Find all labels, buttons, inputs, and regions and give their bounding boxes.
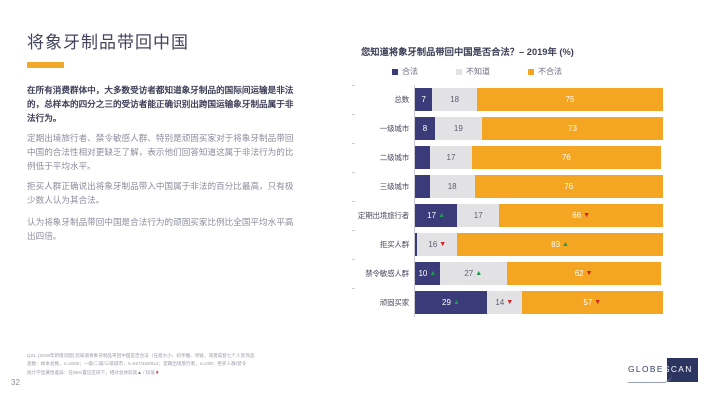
logo-swoosh [628,374,672,383]
title-underline-accent [27,62,64,68]
footnote-line-3: 统计学显著性差异：在95%置信区间下，相对总体较高▲ / 较低▼ [27,369,387,377]
bar-segment-不知道: 16▼ [417,233,457,256]
bar-segment-合法: 8 [415,117,435,140]
axis-tick [352,201,355,202]
chart-bar-group: 10▲27▲62▼ [415,262,710,285]
chart-row: 顽固买家29▲14▼57▼ [352,291,710,314]
axis-tick [352,85,355,86]
bar-segment-不合法: 66▼ [499,204,663,227]
chart-row-label: 一级城市 [352,123,414,134]
bar-segment-合法: 6 [415,146,430,169]
bar-value-label: 29 [442,298,451,307]
bar-value-label: 17 [427,211,436,220]
axis-tick [352,114,355,115]
chart-row: 定期出境旅行者17▲1766▼ [352,204,710,227]
bar-segment-不知道: 17 [430,146,472,169]
chart-row: 总数71875 [352,88,710,111]
bar-segment-不合法: 75 [477,88,663,111]
legend-swatch-icon [528,69,534,75]
chart-row: 一级城市81973 [352,117,710,140]
globescan-logo: GLOBESCAN [628,356,702,384]
sig-low-icon: ▼ [155,370,160,375]
significance-up-icon: ▲ [475,270,482,277]
bar-segment-不知道: 14▼ [487,291,522,314]
bar-segment-合法: 7 [415,88,432,111]
bar-value-label: 76 [562,153,571,162]
left-panel: 将象牙制品带回中国 在所有消费群体中，大多数受访者都知道象牙制品的国际间运输是非… [0,0,352,400]
logo-text: GLOBESCAN [628,364,693,374]
chart-plot-area: 总数71875一级城市81973二级城市61776三级城市61876定期出境旅行… [352,88,710,318]
footnotes: Q21. [2019年新增问题] 您知道将象牙制品带回中国是否合法（任意大小、初… [27,352,387,377]
bar-segment-不合法: 57▼ [522,291,663,314]
legend-item-1: 不知道 [456,66,490,77]
significance-up-icon: ▲ [429,270,436,277]
bar-value-label: 57 [583,298,592,307]
bar-value-label: 66 [572,211,581,220]
legend-label: 不知道 [466,66,490,77]
legend-item-0: 合法 [392,66,418,77]
bar-value-label: 19 [454,124,463,133]
bar-segment-合法: 17▲ [415,204,457,227]
bar-value-label: 7 [421,95,425,104]
bar-value-label: 14 [495,298,504,307]
chart-bar-group: 17▲1766▼ [415,204,710,227]
bar-segment-不知道: 19 [435,117,482,140]
summary-paragraph-2: 定期出境旅行者、禁令敏感人群、特别是顽固买家对于将象牙制品带回中国的合法性相对更… [27,132,299,174]
chart-row: 拒买人群116▼83▲ [352,233,710,256]
chart-title: 您知道将象牙制品带回中国是否合法？– 2019年 (%) [361,44,574,58]
bar-segment-不知道: 27▲ [440,262,507,285]
bar-segment-不合法: 62▼ [507,262,661,285]
legend-item-2: 不合法 [528,66,562,77]
bar-value-label: 18 [450,95,459,104]
footnote-line-1: Q21. [2019年新增问题] 您知道将象牙制品带回中国是否合法（任意大小、初… [27,352,387,360]
bar-value-label: 10 [418,269,427,278]
bar-segment-合法: 10▲ [415,262,440,285]
chart-panel: 您知道将象牙制品带回中国是否合法？– 2019年 (%) 合法不知道不合法 总数… [352,0,710,400]
chart-row-label: 禁令敏感人群 [352,268,414,279]
page-title: 将象牙制品带回中国 [27,28,189,53]
chart-row: 二级城市61776 [352,146,710,169]
summary-paragraph-1: 在所有消费群体中，大多数受访者都知道象牙制品的国际间运输是非法的，总样本的四分之… [27,84,299,126]
chart-row: 禁令敏感人群10▲27▲62▼ [352,262,710,285]
bar-segment-不合法: 76 [472,146,660,169]
bar-value-label: 16 [428,240,437,249]
sig-high-icon: ▲ [137,370,142,375]
significance-up-icon: ▲ [453,299,460,306]
chart-bar-group: 81973 [415,117,710,140]
chart-row-label: 顽固买家 [352,297,414,308]
legend-swatch-icon [392,69,398,75]
axis-tick [352,259,355,260]
chart-bar-group: 61776 [415,146,710,169]
legend-label: 不合法 [538,66,562,77]
bar-segment-合法: 6 [415,175,430,198]
chart-row-label: 拒买人群 [352,239,414,250]
bar-segment-不合法: 83▲ [457,233,663,256]
chart-row: 三级城市61876 [352,175,710,198]
chart-legend: 合法不知道不合法 [392,66,562,77]
footnote-line-2: 基数：样本总数，n=2000；一级/二级/三级城市，n=927/459/614；… [27,360,387,368]
bar-value-label: 76 [564,182,573,191]
bar-value-label: 18 [448,182,457,191]
chart-row-label: 三级城市 [352,181,414,192]
chart-row-label: 定期出境旅行者 [352,210,414,221]
chart-bar-group: 116▼83▲ [415,233,710,256]
chart-bar-group: 29▲14▼57▼ [415,291,710,314]
chart-row-label: 总数 [352,94,414,105]
page-number: 32 [11,378,20,387]
bar-value-label: 62 [575,269,584,278]
logo-part-dark: GLOBE [628,364,664,374]
significance-down-icon: ▼ [583,212,590,219]
bar-value-label: 73 [568,124,577,133]
axis-tick [352,288,355,289]
chart-row-label: 二级城市 [352,152,414,163]
axis-tick [352,172,355,173]
bar-segment-合法: 29▲ [415,291,487,314]
significance-down-icon: ▼ [439,241,446,248]
chart-bar-group: 61876 [415,175,710,198]
logo-part-light: SCAN [664,364,693,374]
axis-tick [352,230,355,231]
chart-bar-group: 71875 [415,88,710,111]
significance-up-icon: ▲ [562,241,569,248]
bar-value-label: 8 [423,124,427,133]
bar-value-label: 17 [474,211,483,220]
axis-tick [352,143,355,144]
bar-value-label: 75 [566,95,575,104]
slide-root: 将象牙制品带回中国 在所有消费群体中，大多数受访者都知道象牙制品的国际间运输是非… [0,0,710,400]
bar-segment-不知道: 18 [432,88,477,111]
legend-label: 合法 [402,66,418,77]
bar-value-label: 83 [551,240,560,249]
bar-segment-不合法: 73 [482,117,663,140]
significance-down-icon: ▼ [506,299,513,306]
bar-segment-不合法: 76 [475,175,663,198]
summary-paragraph-4: 认为将象牙制品带回中国是合法行为的顽固买家比例比全国平均水平高出四倍。 [27,216,299,244]
bar-segment-不知道: 17 [457,204,499,227]
summary-paragraph-3: 拒买人群正确说出将象牙制品带入中国属于非法的百分比最高，只有极少数人认为其合法。 [27,180,299,208]
bar-segment-不知道: 18 [430,175,475,198]
bar-value-label: 17 [447,153,456,162]
significance-up-icon: ▲ [438,212,445,219]
bar-value-label: 27 [464,269,473,278]
significance-down-icon: ▼ [586,270,593,277]
significance-down-icon: ▼ [594,299,601,306]
legend-swatch-icon [456,69,462,75]
